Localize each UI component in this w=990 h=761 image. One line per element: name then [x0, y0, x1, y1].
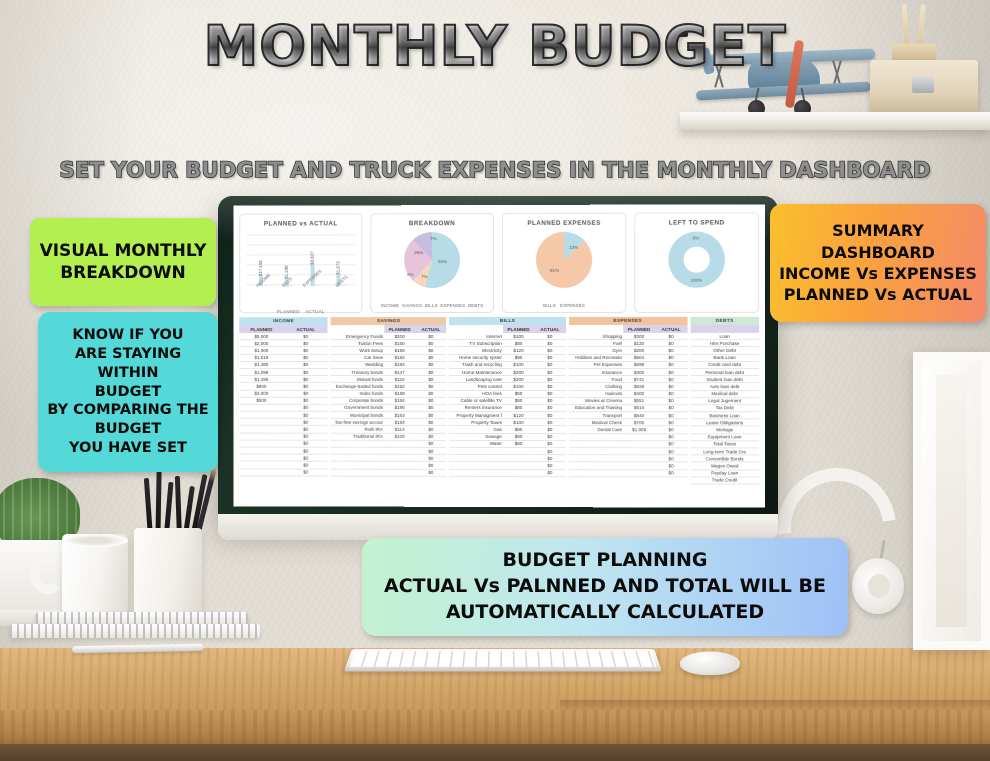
table-row[interactable]: $1,295$0 — [239, 376, 328, 383]
table-row[interactable]: Home security syster$90$0 — [450, 355, 566, 362]
table-row[interactable]: TV Subscription$80$0 — [450, 340, 566, 347]
col-item — [569, 325, 623, 333]
cell-actual: $0 — [534, 419, 565, 425]
picture-frame-mat — [936, 375, 967, 627]
cell-actual: $0 — [415, 376, 446, 382]
pie-slice-label: 7% — [430, 236, 437, 241]
table-row[interactable]: Landscaping care$200$0 — [450, 376, 566, 383]
table-row[interactable]: Movies at Cinema$551$0 — [569, 398, 687, 405]
table-row[interactable]: Loan — [690, 333, 759, 340]
table-row[interactable]: Convertible Bonds — [690, 456, 759, 463]
cell-item: Long-term Trade Cre — [690, 448, 759, 454]
cell-actual: $0 — [655, 405, 687, 411]
bar-category-labels: INCOME BILLS EXPENSES DEBTS — [250, 284, 353, 298]
table-row[interactable]: Fuel$120$0 — [569, 340, 687, 347]
cell-planned: $163 — [384, 412, 415, 418]
cell-item: Water — [450, 441, 503, 447]
table-row[interactable]: $2,000$0 — [239, 340, 328, 347]
table-header-expenses: EXPENSES — [569, 317, 687, 325]
table-row[interactable]: $1,019$0 — [239, 355, 328, 362]
mug-rim — [62, 534, 128, 547]
donut-hole — [684, 247, 710, 273]
table-bills[interactable]: BILLS PLANNED ACTUAL Internet$100$0 TV S… — [450, 317, 566, 484]
cell-item: Treasury bonds — [331, 369, 384, 375]
table-row[interactable]: Clothing$929$0 — [569, 383, 687, 390]
table-row[interactable]: Government bonds$190$0 — [331, 405, 447, 412]
cell-planned: $184 — [384, 362, 415, 368]
table-row[interactable]: Personal loan debt — [690, 369, 759, 376]
table-row[interactable]: Haircuts$400$0 — [569, 391, 687, 398]
cell-item: Movies at Cinema — [569, 398, 623, 404]
cell-actual: $0 — [415, 412, 446, 418]
cell-planned — [623, 455, 655, 461]
table-row[interactable]: Education and Training$514$0 — [569, 405, 687, 412]
table-subheader — [690, 325, 759, 333]
table-row[interactable]: Food$741$0 — [569, 376, 687, 383]
cell-planned: $80 — [503, 340, 534, 346]
table-row[interactable]: Work Setup$150$0 — [331, 347, 447, 354]
cell-item: Loan — [690, 333, 759, 339]
table-row[interactable]: Renters insurance$80$0 — [450, 405, 566, 412]
table-row[interactable]: Trade Credit — [690, 477, 759, 484]
pie-slice-label: 54% — [438, 259, 447, 264]
cell-planned — [623, 434, 655, 440]
cell-actual: $0 — [284, 390, 328, 396]
cell-planned: $110 — [384, 376, 415, 382]
cell-actual: $0 — [655, 419, 687, 425]
table-row[interactable]: $0 — [569, 470, 687, 477]
cell-actual: $0 — [284, 383, 328, 389]
card-title: PLANNED EXPENSES — [503, 214, 625, 227]
cell-item: Insurance — [569, 369, 623, 375]
table-row[interactable]: Medical debt — [690, 391, 759, 398]
cell-actual: $0 — [655, 455, 687, 461]
cell-item: Transport — [569, 412, 623, 418]
cell-item: Mutual funds — [331, 376, 384, 382]
cell-actual: $0 — [415, 369, 446, 375]
cell-planned: $120 — [503, 347, 534, 353]
col-item — [690, 325, 759, 333]
cell-planned: $2,000 — [239, 340, 283, 346]
savings-rows: Emergency Funds$200$0 Tuition Fees$150$0… — [331, 333, 447, 477]
table-row[interactable]: Gym$200$0 — [569, 347, 687, 354]
table-row[interactable]: $0 — [239, 469, 328, 476]
cell-actual: $0 — [534, 391, 565, 397]
cell-item: Payday Loan — [690, 470, 759, 476]
cell-planned — [503, 448, 534, 454]
cell-planned: $504 — [623, 355, 655, 361]
card-title: LEFT TO SPEND — [635, 213, 758, 226]
cell-planned: $300 — [623, 369, 655, 375]
bar-value-label: $1,673 — [335, 261, 340, 274]
table-row[interactable]: $0 — [331, 469, 447, 476]
cell-planned: $1,480 — [239, 362, 283, 368]
cell-item — [331, 462, 384, 468]
debts-rows: Loan Hire Purchase Other Debt Bank Loan … — [690, 333, 759, 485]
table-row[interactable]: Car Save$184$0 — [331, 355, 447, 362]
cell-item: Hobbies and Recreatio — [569, 355, 623, 361]
cell-item: Internet — [450, 333, 503, 339]
cell-actual: $0 — [415, 390, 446, 396]
col-item — [450, 325, 503, 333]
cell-planned: $1,009 — [623, 427, 655, 433]
cell-actual: $0 — [534, 434, 565, 440]
legend-expenses: EXPENSES — [440, 303, 465, 308]
table-row[interactable]: Other Debt — [690, 347, 759, 354]
cell-item — [569, 455, 623, 461]
cell-actual: $0 — [534, 412, 565, 418]
callout-visual-monthly-breakdown: VISUAL MONTHLY BREAKDOWN — [30, 218, 216, 306]
table-row[interactable]: Equipment Loan — [690, 434, 759, 441]
page-title: MONTHLY BUDGET — [0, 14, 990, 78]
cell-actual: $0 — [415, 455, 446, 461]
cell-actual: $0 — [415, 469, 446, 475]
col-actual: ACTUAL — [284, 325, 328, 333]
table-row[interactable]: Treasury bonds$147$0 — [331, 369, 447, 376]
card-planned-expenses[interactable]: PLANNED EXPENSES 13% 81% BILLS EXPENSES — [502, 213, 626, 313]
headphone-earcup-inner — [868, 574, 890, 598]
cell-planned — [239, 419, 283, 425]
cell-planned: $90 — [503, 355, 534, 361]
cell-planned: $551 — [623, 398, 655, 404]
cell-item: Total Taxes — [690, 441, 759, 447]
cell-actual: $0 — [655, 434, 687, 440]
desk-grain — [560, 700, 990, 712]
cell-planned: $200 — [503, 369, 534, 375]
cell-planned: $840 — [623, 412, 655, 418]
cell-planned — [503, 470, 534, 476]
legend-savings: SAVINGS — [402, 303, 422, 308]
cell-actual: $0 — [284, 440, 328, 446]
cell-planned — [239, 412, 283, 418]
table-row[interactable]: Student loan debt — [690, 376, 759, 383]
mouse[interactable] — [679, 651, 740, 675]
cell-planned — [239, 426, 283, 432]
cell-item: Trade Credit — [690, 477, 759, 483]
cell-actual: $0 — [415, 362, 446, 368]
table-income[interactable]: INCOME PLANNED ACTUAL $5,000$0 $2,000$0 … — [239, 317, 328, 483]
col-planned: PLANNED — [623, 325, 655, 333]
breakdown-pie-wrap: 54% 7% 0% 26% 7% — [371, 232, 493, 294]
cell-actual: $0 — [284, 355, 328, 361]
cell-planned — [239, 440, 283, 446]
cell-planned — [384, 441, 415, 447]
table-row[interactable]: Mutual funds$110$0 — [331, 376, 447, 383]
legend-income: INCOME — [381, 303, 399, 308]
cell-planned: $114 — [384, 426, 415, 432]
cell-actual: $0 — [655, 412, 687, 418]
table-row[interactable]: Index funds$188$0 — [331, 390, 447, 397]
monitor-chin — [218, 514, 778, 540]
cell-item — [569, 441, 623, 447]
table-row[interactable]: Total Taxes — [690, 441, 759, 448]
col-actual: ACTUAL — [655, 325, 687, 333]
table-row[interactable]: $0 — [239, 412, 328, 419]
table-row[interactable]: Business Loan — [690, 412, 759, 419]
table-row[interactable]: $800$0 — [239, 383, 328, 390]
cell-item — [450, 448, 503, 454]
table-row[interactable]: $0 — [239, 419, 328, 426]
table-subheader: PLANNED ACTUAL — [569, 325, 687, 333]
cell-planned: $200 — [384, 333, 415, 339]
table-row[interactable]: Credit card debt — [690, 362, 759, 369]
income-rows: $5,000$0 $2,000$0 $1,000$0 $1,019$0 $1,4… — [239, 333, 328, 476]
cell-actual: $0 — [284, 455, 328, 461]
table-row[interactable]: Pet Expenses$698$0 — [569, 362, 687, 369]
cell-actual: $0 — [415, 419, 446, 425]
callout-know-if-within-budget: KNOW IF YOU ARE STAYING WITHIN BUDGET BY… — [38, 312, 218, 472]
cell-actual: $0 — [655, 376, 687, 382]
pie-slice-label: 13% — [569, 245, 578, 250]
cell-planned: $100 — [384, 433, 415, 439]
cell-actual: $0 — [534, 405, 565, 411]
wall-shelf — [680, 112, 990, 130]
table-row[interactable]: Insurance$300$0 — [569, 369, 687, 376]
cell-planned: $200 — [623, 347, 655, 353]
cell-actual: $0 — [415, 434, 446, 440]
table-row[interactable]: Hire Purchase — [690, 340, 759, 347]
cell-item: Pest control — [450, 383, 503, 389]
table-row[interactable]: Trash and recycling$100$0 — [450, 362, 566, 369]
cell-actual: $0 — [284, 369, 328, 375]
cell-planned — [384, 448, 415, 454]
mug-handle — [30, 552, 66, 594]
table-header-income: INCOME — [239, 317, 328, 325]
col-planned: PLANNED — [503, 325, 534, 333]
cell-actual: $0 — [534, 347, 565, 353]
cell-planned — [623, 463, 655, 469]
callout-line: PLANNED Vs ACTUAL — [779, 284, 977, 305]
table-row[interactable]: $1,480$0 — [239, 362, 328, 369]
cell-actual: $0 — [415, 405, 446, 411]
left-to-spend-donut: 0% 100% — [668, 232, 724, 288]
table-row[interactable]: Hobbies and Recreatio$504$0 — [569, 355, 687, 362]
callout-line: BUDGET — [47, 420, 208, 439]
bar-value-label: $1,290 — [283, 265, 288, 278]
table-row[interactable]: Home Maintenance$200$0 — [450, 369, 566, 376]
legend-bills: BILLS — [425, 303, 438, 308]
cell-planned: $80 — [503, 426, 534, 432]
cell-planned — [239, 405, 283, 411]
callout-line: ARE STAYING — [47, 345, 208, 364]
cell-actual: $0 — [284, 433, 328, 439]
cell-item: Dental Care — [569, 427, 623, 433]
table-header-savings: SAVINGS — [331, 317, 447, 325]
cell-item: Fuel — [569, 340, 623, 346]
table-row[interactable]: HOA fees$50$0 — [450, 390, 566, 397]
cell-planned: $500 — [239, 397, 283, 403]
cell-item: Exchange-traded funds — [331, 383, 384, 389]
cell-item: Sewage — [450, 434, 503, 440]
cell-actual: $0 — [534, 362, 565, 368]
cell-item: Lease Obligations — [690, 419, 759, 425]
table-row[interactable]: $5,000$0 — [239, 333, 328, 340]
table-savings[interactable]: SAVINGS PLANNED ACTUAL Emergency Funds$2… — [331, 317, 447, 484]
keyboard-keys — [350, 651, 657, 667]
cell-planned — [623, 441, 655, 447]
legend-expenses: EXPENSES — [560, 303, 585, 308]
cell-planned: $514 — [623, 405, 655, 411]
cell-planned: $100 — [503, 383, 534, 389]
cell-item — [450, 469, 503, 475]
cell-actual: $0 — [415, 383, 446, 389]
cell-planned: $184 — [384, 398, 415, 404]
cell-planned: $3,000 — [239, 390, 283, 396]
table-expenses[interactable]: EXPENSES PLANNED ACTUAL Shopping$300$0 F… — [569, 317, 687, 484]
card-left-to-spend[interactable]: LEFT TO SPEND 0% 100% — [634, 212, 759, 313]
cell-item: Gas — [450, 426, 503, 432]
cell-planned: $400 — [623, 391, 655, 397]
cell-planned: $50 — [503, 391, 534, 397]
cell-planned: $50 — [503, 398, 534, 404]
bar-value-label: $17,193 — [258, 261, 263, 277]
cell-item — [331, 441, 384, 447]
cell-planned: $800 — [239, 383, 283, 389]
callout-line: WITHIN — [47, 364, 208, 383]
cell-item — [450, 455, 503, 461]
monitor-screen[interactable]: PLANNED vs ACTUAL $17,193 $1,290 — [233, 204, 765, 507]
cell-planned — [503, 462, 534, 468]
cell-item: Trash and recycling — [450, 362, 503, 368]
table-row[interactable]: Exchange-traded funds$182$0 — [331, 383, 447, 390]
table-row[interactable]: $3,000$0 — [239, 390, 328, 397]
bar-value-label: $8,827 — [309, 251, 314, 264]
cell-actual: $0 — [655, 448, 687, 454]
cell-actual: $0 — [534, 340, 565, 346]
cell-actual: $0 — [534, 441, 565, 447]
table-row[interactable]: Emergency Funds$200$0 — [331, 333, 447, 340]
cell-planned: $182 — [384, 383, 415, 389]
cell-item: Credit card debt — [690, 362, 759, 368]
legend-debts: DEBTS — [468, 303, 483, 308]
cell-actual: $0 — [534, 448, 565, 454]
cell-planned: $100 — [503, 419, 534, 425]
card-breakdown[interactable]: BREAKDOWN 54% 7% 0% 26% 7% INCOME SAVING… — [370, 213, 494, 313]
cell-actual: $0 — [655, 441, 687, 447]
cell-actual: $0 — [655, 369, 687, 375]
cell-actual: $0 — [415, 398, 446, 404]
table-row[interactable]: Wedding$184$0 — [331, 362, 447, 369]
table-row[interactable]: Bank Loan — [690, 355, 759, 362]
cell-item — [569, 434, 623, 440]
table-row[interactable]: Pest control$100$0 — [450, 383, 566, 390]
cell-item — [331, 469, 384, 475]
table-row[interactable]: Cable or satellite TV$50$0 — [450, 398, 566, 405]
cell-item: Work Setup — [331, 347, 384, 353]
cell-actual: $0 — [534, 383, 565, 389]
cell-item: HOA fees — [450, 390, 503, 396]
planned-expenses-legend: BILLS EXPENSES — [503, 303, 625, 308]
box-clasp-icon — [912, 77, 934, 93]
notebook — [10, 624, 260, 638]
cell-item: Electricity — [450, 347, 503, 353]
cell-planned: $5,000 — [239, 333, 283, 339]
table-subheader: PLANNED ACTUAL — [331, 325, 447, 333]
cell-planned — [384, 462, 415, 468]
table-debts[interactable]: DEBTS Loan Hire Purchase Other Debt Bank… — [690, 317, 759, 485]
cell-item: Personal loan debt — [690, 369, 759, 375]
keyboard[interactable] — [344, 649, 662, 671]
cell-planned — [503, 455, 534, 461]
callout-line: BUDGET PLANNING — [384, 548, 826, 574]
cell-planned: $120 — [623, 340, 655, 346]
cell-item: Roth IRA — [331, 426, 384, 432]
cell-planned: $80 — [503, 405, 534, 411]
pencil-holder — [134, 528, 202, 616]
table-row[interactable]: Electricity$120$0 — [450, 347, 566, 354]
table-row[interactable]: Tax Debt — [690, 405, 759, 412]
callout-line: DASHBOARD — [779, 242, 977, 263]
table-row[interactable]: Internet$100$0 — [450, 333, 566, 340]
cell-item — [450, 462, 503, 468]
table-row[interactable]: Lease Obligations — [690, 419, 759, 426]
cell-item: Mortage — [690, 427, 759, 433]
cell-actual: $0 — [284, 333, 328, 339]
cell-planned: $80 — [503, 441, 534, 447]
cell-item: Corporate bonds — [331, 398, 384, 404]
expenses-rows: Shopping$300$0 Fuel$120$0 Gym$200$0 Hobb… — [569, 333, 687, 477]
card-planned-vs-actual[interactable]: PLANNED vs ACTUAL $17,193 $1,290 — [239, 213, 362, 313]
bills-rows: Internet$100$0 TV Subscription$80$0 Elec… — [450, 333, 566, 477]
cell-actual: $0 — [534, 470, 565, 476]
callout-line: INCOME Vs EXPENSES — [779, 263, 977, 284]
cell-actual: $0 — [534, 398, 565, 404]
cell-item: Medical debt — [690, 391, 759, 397]
cell-actual: $0 — [534, 455, 565, 461]
table-subheader: PLANNED ACTUAL — [239, 325, 328, 333]
cell-actual: $0 — [415, 340, 446, 346]
table-row[interactable]: Tuition Fees$150$0 — [331, 340, 447, 347]
table-row[interactable]: Auto loan debt — [690, 383, 759, 390]
table-row[interactable]: Legal Jugement — [690, 398, 759, 405]
callout-line: SUMMARY — [779, 220, 977, 241]
cell-actual: $0 — [655, 355, 687, 361]
cell-item — [331, 448, 384, 454]
col-planned: PLANNED — [239, 325, 283, 333]
legend-actual: ACTUAL — [305, 309, 324, 314]
table-row[interactable]: Corporate bonds$184$0 — [331, 398, 447, 405]
callout-line: ACTUAL Vs PALNNED AND TOTAL WILL BE — [384, 574, 826, 600]
callout-budget-planning: BUDGET PLANNING ACTUAL Vs PALNNED AND TO… — [362, 538, 848, 636]
cell-actual: $0 — [655, 333, 687, 339]
donut-label-spent: 0% — [693, 236, 700, 241]
cell-actual: $0 — [284, 462, 328, 468]
cell-item: Traditional IRA — [331, 433, 384, 439]
cell-item: Tax Debt — [690, 405, 759, 411]
table-row[interactable]: $1,099$0 — [239, 369, 328, 376]
table-row[interactable]: $0 — [450, 469, 566, 476]
table-row[interactable]: $0 — [239, 405, 328, 412]
cell-item: Wages Owed — [690, 463, 759, 469]
table-row[interactable]: Mortage — [690, 427, 759, 434]
cell-item: Medical Check — [569, 419, 623, 425]
table-row[interactable]: $1,000$0 — [239, 347, 328, 354]
dashboard-cards-row: PLANNED vs ACTUAL $17,193 $1,290 — [233, 204, 765, 317]
cell-actual: $0 — [415, 355, 446, 361]
cell-item: Home security syster — [450, 355, 503, 361]
cell-item: Haircuts — [569, 391, 623, 397]
cell-planned — [384, 455, 415, 461]
pie-slice-label: 81% — [550, 268, 559, 273]
pie-slice-label: 26% — [414, 250, 423, 255]
cell-actual: $0 — [284, 419, 328, 425]
table-row[interactable]: Long-term Trade Cre — [690, 448, 759, 455]
table-row[interactable]: $500$0 — [239, 397, 328, 404]
table-row[interactable]: Shopping$300$0 — [569, 333, 687, 340]
cell-actual: $0 — [534, 369, 565, 375]
cell-planned: $80 — [503, 434, 534, 440]
callout-line: BREAKDOWN — [40, 262, 207, 284]
